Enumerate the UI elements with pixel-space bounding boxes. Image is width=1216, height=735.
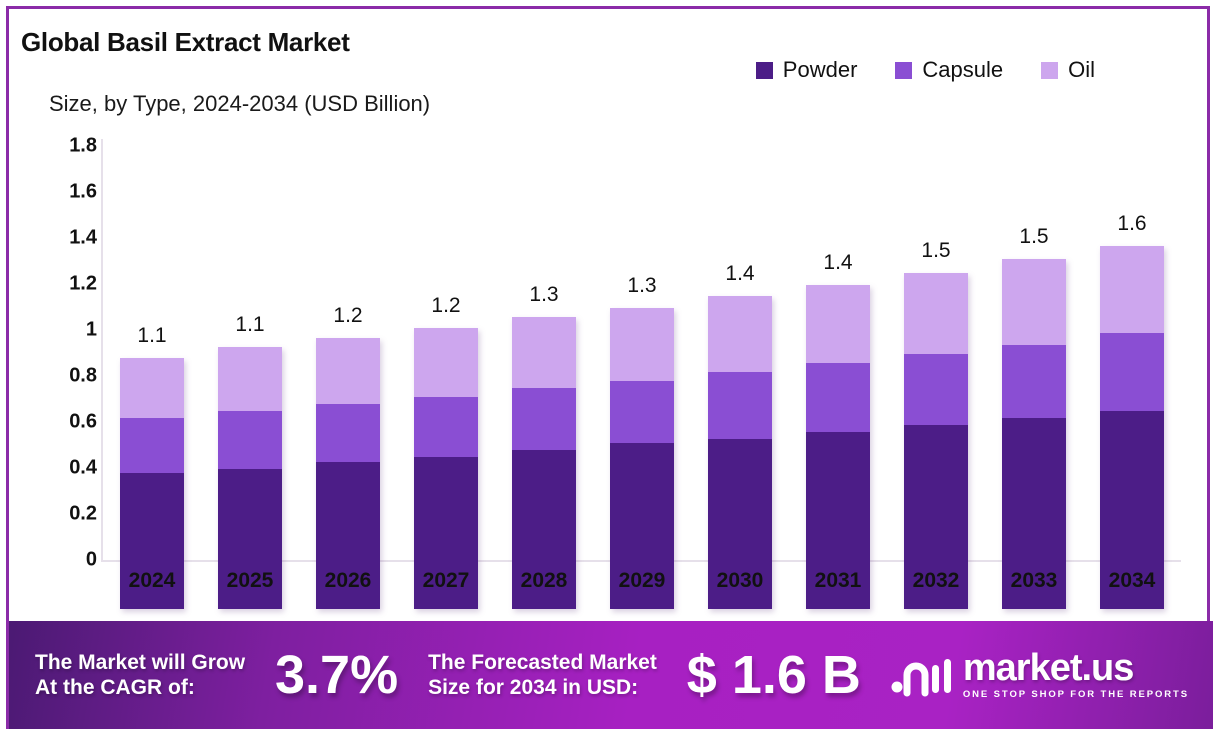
x-axis-tick-2034: 2034 xyxy=(1083,569,1181,593)
bar-total-label: 1.3 xyxy=(529,283,558,307)
bar-column-2027[interactable]: 1.2 xyxy=(397,58,495,609)
market-us-logo[interactable]: market.us ONE STOP SHOP FOR THE REPORTS xyxy=(891,650,1199,699)
bar-stack[interactable] xyxy=(806,285,870,609)
bar-segment-oil[interactable] xyxy=(414,328,478,397)
bar-segment-oil[interactable] xyxy=(316,338,380,405)
bar-column-2026[interactable]: 1.2 xyxy=(299,58,397,609)
bar-stack[interactable] xyxy=(512,317,576,609)
bar-total-label: 1.3 xyxy=(627,274,656,298)
bar-segment-capsule[interactable] xyxy=(316,404,380,462)
market-us-logo-mark-icon xyxy=(891,653,953,697)
bar-segment-capsule[interactable] xyxy=(806,363,870,432)
bar-group: 1.11.11.21.21.31.31.41.41.51.51.6 xyxy=(103,9,1181,609)
bar-segment-capsule[interactable] xyxy=(512,388,576,450)
bar-total-label: 1.1 xyxy=(137,324,166,348)
y-axis-tick: 1.4 xyxy=(69,227,97,250)
bar-total-label: 1.4 xyxy=(823,251,852,275)
x-axis-tick-2030: 2030 xyxy=(691,569,789,593)
y-axis-tick: 1.8 xyxy=(69,135,97,158)
bar-column-2031[interactable]: 1.4 xyxy=(789,58,887,609)
bar-stack[interactable] xyxy=(904,273,968,609)
bar-segment-capsule[interactable] xyxy=(414,397,478,457)
bar-stack[interactable] xyxy=(1100,246,1164,609)
bar-segment-capsule[interactable] xyxy=(708,372,772,439)
bar-stack[interactable] xyxy=(708,296,772,609)
x-axis-tick-2024: 2024 xyxy=(103,569,201,593)
bar-column-2024[interactable]: 1.1 xyxy=(103,58,201,609)
bar-column-2033[interactable]: 1.5 xyxy=(985,58,1083,609)
x-axis-tick-2027: 2027 xyxy=(397,569,495,593)
bar-column-2032[interactable]: 1.5 xyxy=(887,58,985,609)
bar-segment-capsule[interactable] xyxy=(904,354,968,425)
bar-segment-oil[interactable] xyxy=(512,317,576,388)
y-axis-tick: 1.2 xyxy=(69,273,97,296)
bar-segment-oil[interactable] xyxy=(904,273,968,354)
bar-segment-capsule[interactable] xyxy=(218,411,282,469)
forecast-label-line2: Size for 2034 in USD: xyxy=(428,675,657,700)
bar-segment-oil[interactable] xyxy=(1100,246,1164,333)
bar-total-label: 1.1 xyxy=(235,313,264,337)
x-axis-tick-2028: 2028 xyxy=(495,569,593,593)
logo-text: market.us ONE STOP SHOP FOR THE REPORTS xyxy=(963,650,1189,699)
x-axis-tick-2026: 2026 xyxy=(299,569,397,593)
bar-total-label: 1.5 xyxy=(1019,225,1048,249)
cagr-label-line1: The Market will Grow xyxy=(35,650,245,675)
bar-segment-capsule[interactable] xyxy=(1002,345,1066,419)
x-axis-tick-2031: 2031 xyxy=(789,569,887,593)
bar-column-2028[interactable]: 1.3 xyxy=(495,58,593,609)
y-axis-tick: 0.2 xyxy=(69,503,97,526)
y-axis-tick: 0.4 xyxy=(69,457,97,480)
bar-segment-oil[interactable] xyxy=(610,308,674,382)
bar-column-2034[interactable]: 1.6 xyxy=(1083,58,1181,609)
cagr-label: The Market will Grow At the CAGR of: xyxy=(35,650,245,700)
forecast-label: The Forecasted Market Size for 2034 in U… xyxy=(428,650,657,700)
bar-total-label: 1.2 xyxy=(333,304,362,328)
cagr-label-line2: At the CAGR of: xyxy=(35,675,245,700)
footer-banner: The Market will Grow At the CAGR of: 3.7… xyxy=(9,621,1213,729)
forecast-value: $ 1.6 B xyxy=(687,648,861,702)
x-axis: 2024202520262027202820292030203120322033… xyxy=(103,569,1181,613)
bar-total-label: 1.4 xyxy=(725,262,754,286)
forecast-label-line1: The Forecasted Market xyxy=(428,650,657,675)
y-axis-tick: 0.6 xyxy=(69,411,97,434)
bar-column-2029[interactable]: 1.3 xyxy=(593,58,691,609)
bar-stack[interactable] xyxy=(1002,259,1066,609)
bar-segment-oil[interactable] xyxy=(120,358,184,418)
logo-tagline: ONE STOP SHOP FOR THE REPORTS xyxy=(963,689,1189,700)
y-axis-tick: 0 xyxy=(86,549,97,572)
x-axis-tick-2033: 2033 xyxy=(985,569,1083,593)
x-axis-tick-2032: 2032 xyxy=(887,569,985,593)
bar-stack[interactable] xyxy=(610,308,674,609)
bar-total-label: 1.5 xyxy=(921,239,950,263)
chart-plot-area: 00.20.40.60.811.21.41.61.8 1.11.11.21.21… xyxy=(9,9,1213,609)
chart-card: Global Basil Extract Market Size, by Typ… xyxy=(6,6,1210,729)
bar-segment-oil[interactable] xyxy=(806,285,870,363)
x-axis-tick-2029: 2029 xyxy=(593,569,691,593)
y-axis-tick: 1 xyxy=(86,319,97,342)
bar-total-label: 1.2 xyxy=(431,294,460,318)
bar-stack[interactable] xyxy=(414,328,478,609)
y-axis-tick: 1.6 xyxy=(69,181,97,204)
logo-wordmark: market.us xyxy=(963,650,1134,686)
infographic-page: Global Basil Extract Market Size, by Typ… xyxy=(0,0,1216,735)
bar-total-label: 1.6 xyxy=(1117,212,1146,236)
bar-segment-capsule[interactable] xyxy=(120,418,184,473)
bar-segment-oil[interactable] xyxy=(708,296,772,372)
y-axis-tick: 0.8 xyxy=(69,365,97,388)
cagr-value: 3.7% xyxy=(275,648,398,702)
bar-segment-capsule[interactable] xyxy=(1100,333,1164,411)
bar-segment-capsule[interactable] xyxy=(610,381,674,443)
bar-segment-oil[interactable] xyxy=(1002,259,1066,344)
y-axis: 00.20.40.60.811.21.41.61.8 xyxy=(35,9,97,609)
x-axis-tick-2025: 2025 xyxy=(201,569,299,593)
bar-segment-oil[interactable] xyxy=(218,347,282,411)
bar-column-2030[interactable]: 1.4 xyxy=(691,58,789,609)
bar-column-2025[interactable]: 1.1 xyxy=(201,58,299,609)
